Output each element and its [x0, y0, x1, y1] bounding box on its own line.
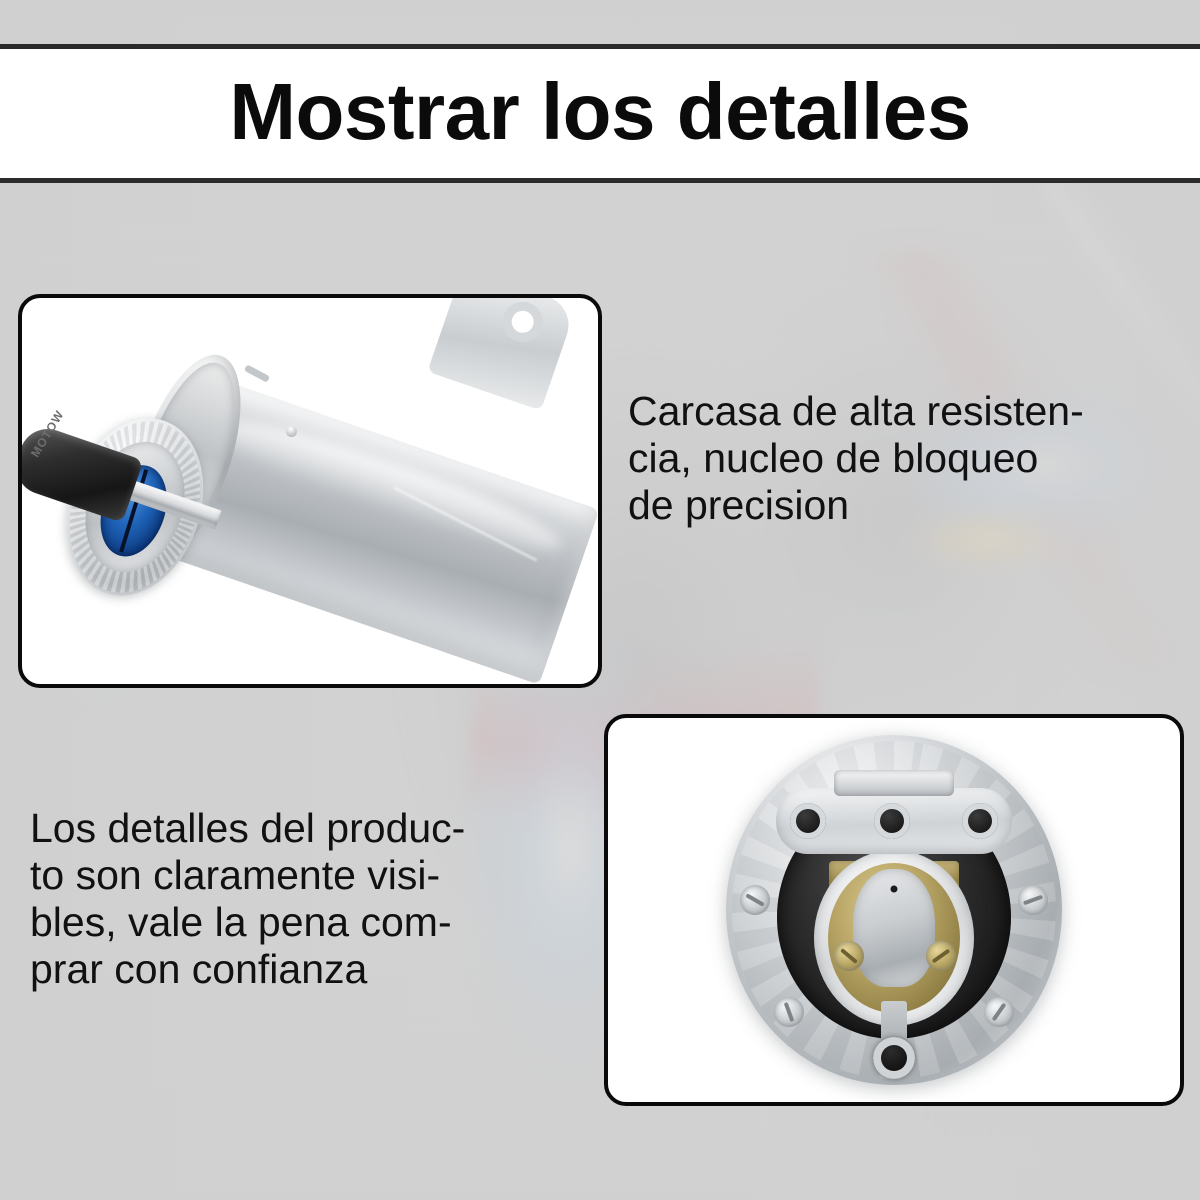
lock-barrel-sheen [203, 402, 568, 568]
feature-text-housing: Carcasa de alta resisten- cia, nucleo de… [628, 388, 1158, 529]
fuel-cap-core-screw-right [926, 941, 956, 971]
fuel-cap-outer-flange [726, 735, 1062, 1085]
fuel-cap-core-screw-left [834, 941, 864, 971]
fuel-cap-bracket-hole-right [962, 803, 998, 839]
header-band: Mostrar los detalles [0, 44, 1200, 183]
fuel-cap-screw-right-lower [984, 997, 1014, 1027]
lock-cylinder-photo: MOTOW [22, 298, 598, 684]
fuel-cap-screw-right-upper [1018, 885, 1048, 915]
fuel-cap-bracket-hole-left [790, 803, 826, 839]
product-photo-card-lock-cylinder[interactable]: MOTOW [18, 294, 602, 688]
fuel-cap-core-pin [891, 886, 898, 893]
fuel-cap-top-bracket [776, 788, 1012, 854]
fuel-cap-hinge [834, 770, 954, 796]
lock-barrel-notch [244, 364, 270, 382]
key-bow-branding: MOTOW [28, 408, 67, 460]
fuel-cap-screw-left-upper [740, 885, 770, 915]
feature-text-visibility: Los detalles del produc- to son claramen… [30, 805, 590, 993]
product-photo-card-fuel-cap[interactable] [604, 714, 1184, 1106]
page-title: Mostrar los detalles [229, 72, 970, 152]
fuel-cap-bracket-hole-center [874, 803, 910, 839]
fuel-cap-screw-left-lower [774, 997, 804, 1027]
fuel-cap-bottom-bolt-hole [873, 1037, 915, 1079]
lock-mounting-arm [427, 298, 576, 411]
lock-mounting-hole [497, 298, 548, 347]
detail-page: Mostrar los detalles [0, 0, 1200, 1200]
fuel-cap-photo [608, 718, 1180, 1102]
